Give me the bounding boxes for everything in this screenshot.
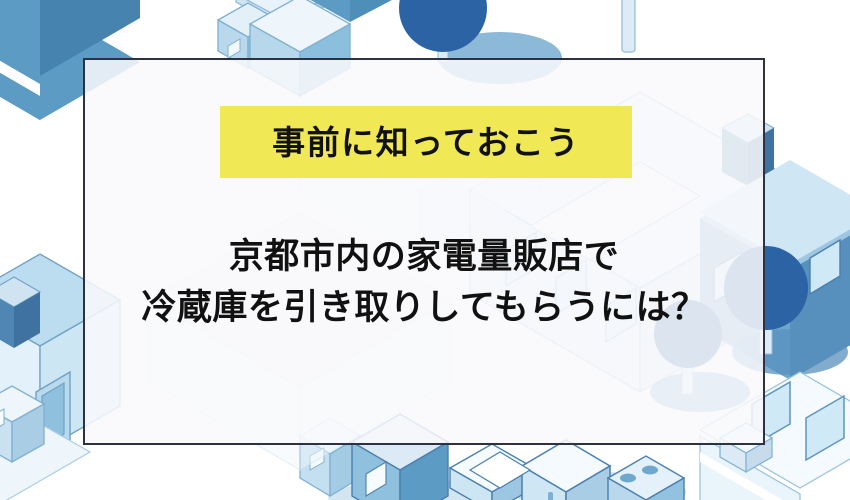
- eyebrow-label: 事前に知っておこう: [272, 126, 580, 159]
- article-thumbnail-card: 事前に知っておこう 京都市内の家電量販店で 冷蔵庫を引き取りしてもらうには？: [83, 58, 765, 445]
- thumbnail-stage: 事前に知っておこう 京都市内の家電量販店で 冷蔵庫を引き取りしてもらうには？: [0, 0, 850, 500]
- eyebrow-banner: 事前に知っておこう: [220, 106, 632, 178]
- headline-line-2: 冷蔵庫を引き取りしてもらうには？: [85, 283, 763, 334]
- headline: 京都市内の家電量販店で 冷蔵庫を引き取りしてもらうには？: [85, 232, 763, 334]
- headline-line-1: 京都市内の家電量販店で: [85, 232, 763, 283]
